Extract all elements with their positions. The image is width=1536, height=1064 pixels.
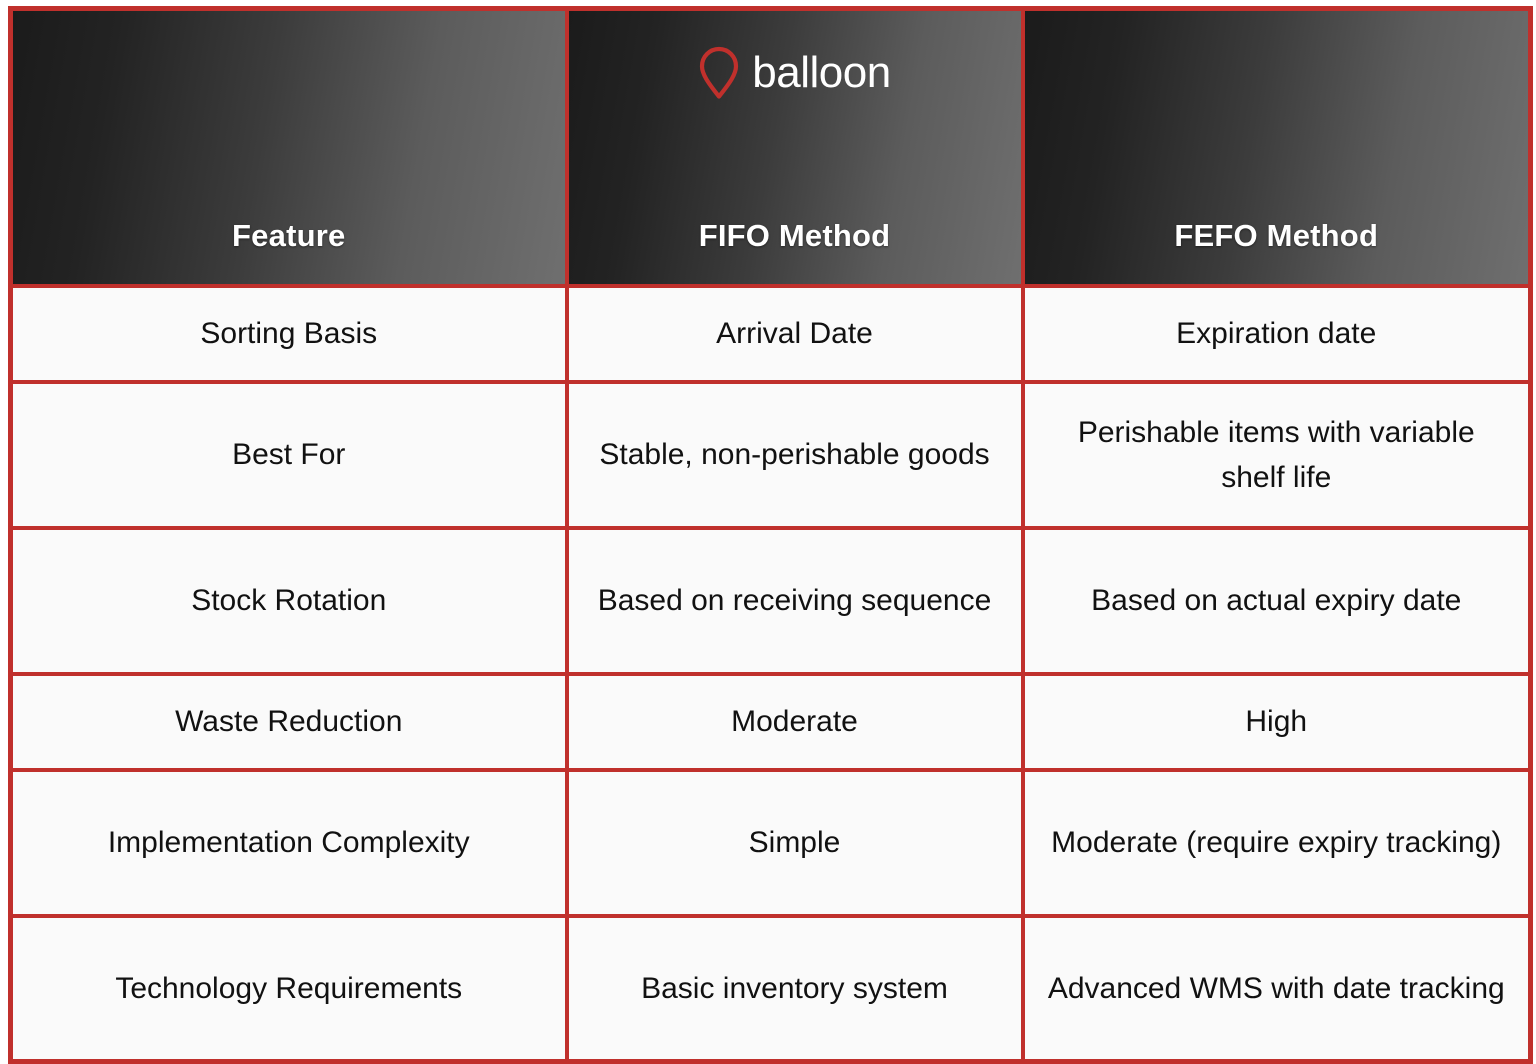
brand-name: balloon (752, 51, 890, 95)
column-header-fefo: FEFO Method (1023, 9, 1531, 286)
map-pin-icon (698, 45, 740, 101)
cell-feature: Waste Reduction (11, 674, 567, 770)
table-row: Best For Stable, non-perishable goods Pe… (11, 382, 1531, 528)
table-header: Feature balloon FIFO Method FEFO Method (11, 9, 1531, 286)
comparison-sheet: Feature balloon FIFO Method FEFO Method (0, 0, 1536, 1040)
brand-lockup: balloon (569, 45, 1021, 101)
fifo-fefo-comparison-table: Feature balloon FIFO Method FEFO Method (8, 6, 1533, 1064)
column-header-feature-label: Feature (13, 218, 565, 284)
cell-fefo: Moderate (require expiry tracking) (1023, 770, 1531, 916)
table-row: Waste Reduction Moderate High (11, 674, 1531, 770)
table-row: Implementation Complexity Simple Moderat… (11, 770, 1531, 916)
cell-fifo: Moderate (567, 674, 1023, 770)
cell-feature: Sorting Basis (11, 286, 567, 382)
cell-feature: Stock Rotation (11, 528, 567, 674)
column-header-fifo: balloon FIFO Method (567, 9, 1023, 286)
cell-fefo: Expiration date (1023, 286, 1531, 382)
table-header-row: Feature balloon FIFO Method FEFO Method (11, 9, 1531, 286)
cell-fefo: Based on actual expiry date (1023, 528, 1531, 674)
table-row: Sorting Basis Arrival Date Expiration da… (11, 286, 1531, 382)
table-row: Stock Rotation Based on receiving sequen… (11, 528, 1531, 674)
table-body: Sorting Basis Arrival Date Expiration da… (11, 286, 1531, 1062)
cell-fifo: Stable, non-perishable goods (567, 382, 1023, 528)
cell-fifo: Based on receiving sequence (567, 528, 1023, 674)
column-header-fifo-label: FIFO Method (569, 218, 1021, 284)
column-header-feature: Feature (11, 9, 567, 286)
cell-feature: Implementation Complexity (11, 770, 567, 916)
cell-feature: Best For (11, 382, 567, 528)
cell-fifo: Arrival Date (567, 286, 1023, 382)
cell-fefo: High (1023, 674, 1531, 770)
column-header-fefo-label: FEFO Method (1025, 218, 1529, 284)
cell-fifo: Simple (567, 770, 1023, 916)
cell-fefo: Perishable items with variable shelf lif… (1023, 382, 1531, 528)
